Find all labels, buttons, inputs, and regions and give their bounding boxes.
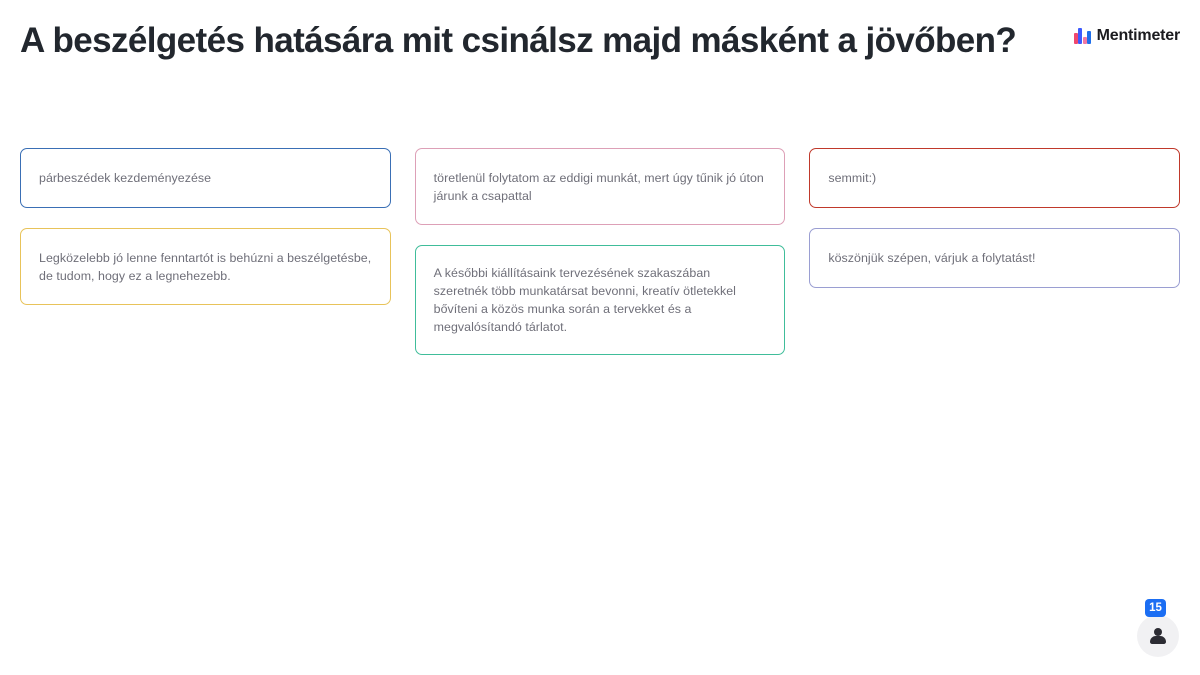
response-text: semmit:) xyxy=(828,169,876,187)
response-card[interactable]: semmit:) xyxy=(809,148,1180,208)
response-card[interactable]: köszönjük szépen, várjuk a folytatást! xyxy=(809,228,1180,288)
response-card[interactable]: A későbbi kiállításaink tervezésének sza… xyxy=(415,245,786,355)
responses-column-3: semmit:) köszönjük szépen, várjuk a foly… xyxy=(809,148,1180,288)
brand-name: Mentimeter xyxy=(1097,27,1180,45)
responses-column-2: töretlenül folytatom az eddigi munkát, m… xyxy=(415,148,786,355)
response-text: töretlenül folytatom az eddigi munkát, m… xyxy=(434,169,767,205)
avatar xyxy=(1137,615,1179,657)
response-card[interactable]: párbeszédek kezdeményezése xyxy=(20,148,391,208)
mentimeter-brand: Mentimeter xyxy=(1074,27,1180,45)
response-text: Legközelebb jó lenne fenntartót is behúz… xyxy=(39,249,372,285)
response-card[interactable]: Legközelebb jó lenne fenntartót is behúz… xyxy=(20,228,391,305)
response-card[interactable]: töretlenül folytatom az eddigi munkát, m… xyxy=(415,148,786,225)
response-text: köszönjük szépen, várjuk a folytatást! xyxy=(828,249,1035,267)
mentimeter-bars-icon xyxy=(1074,28,1091,44)
responses-column-1: párbeszédek kezdeményezése Legközelebb j… xyxy=(20,148,391,305)
responses-board: párbeszédek kezdeményezése Legközelebb j… xyxy=(20,148,1180,578)
participants-count-badge: 15 xyxy=(1145,599,1166,617)
page-title: A beszélgetés hatására mit csinálsz majd… xyxy=(20,18,1070,64)
response-text: párbeszédek kezdeményezése xyxy=(39,169,211,187)
page-header: A beszélgetés hatására mit csinálsz majd… xyxy=(0,0,1200,64)
person-icon xyxy=(1149,628,1167,645)
participants-indicator[interactable]: 15 xyxy=(1137,615,1179,657)
response-text: A későbbi kiállításaink tervezésének sza… xyxy=(434,264,767,336)
